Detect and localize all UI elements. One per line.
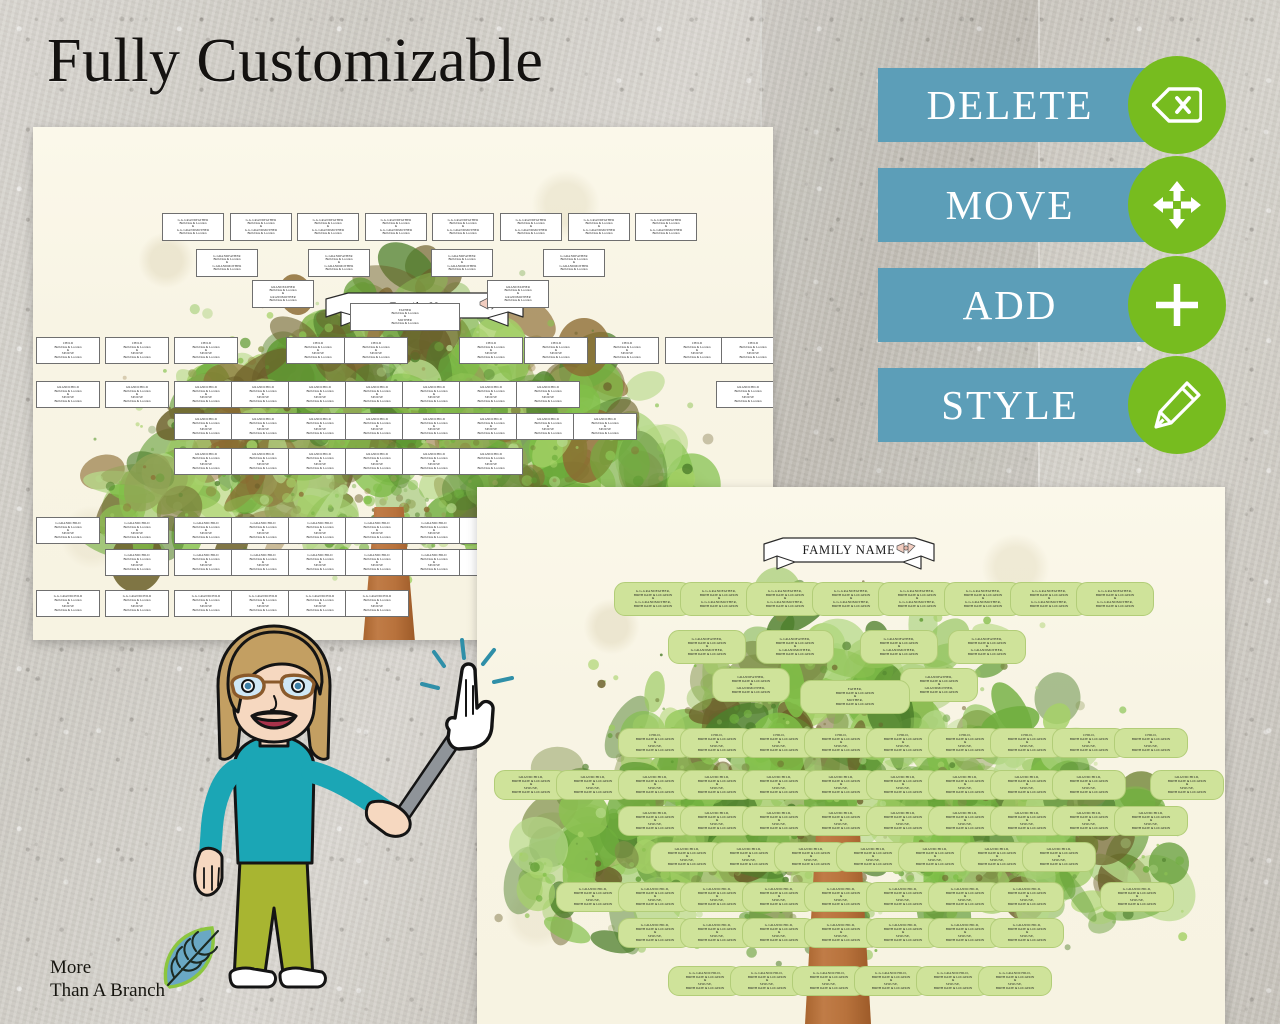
hand-cursor-icon	[447, 664, 493, 749]
tree-node[interactable]: G.GRANDCHILD,BIRTH DATE & LOCATION&SPOUS…	[990, 918, 1064, 948]
tree-node[interactable]: CHILD,BIRTH DATE & LOCATION&SPOUSE,BIRTH…	[1114, 728, 1188, 758]
tree-node[interactable]: G.GRANDCHILDBirth Date & Location&SPOUSE…	[36, 517, 100, 544]
tree-node[interactable]: GRANDCHILDBirth Date & Location&SPOUSEBi…	[459, 413, 523, 440]
tree-node[interactable]: CHILDBirth Date & Location&SPOUSEBirth D…	[524, 337, 588, 364]
family-tree-chart-green[interactable]: FAMILY NAME G.G.GRANDFATHER,BIRTH DATE &…	[477, 487, 1225, 1024]
tree-node[interactable]: GRANDCHILDBirth Date & Location&SPOUSEBi…	[231, 413, 295, 440]
tree-node[interactable]: GRANDCHILDBirth Date & Location&SPOUSEBi…	[288, 448, 352, 475]
logo-line-1: More	[50, 957, 165, 980]
tree-node[interactable]: GRANDCHILD,BIRTH DATE & LOCATION&SPOUSE,…	[1052, 770, 1126, 800]
tree-node[interactable]: GRANDCHILDBirth Date & Location&SPOUSEBi…	[345, 381, 409, 408]
tree-node[interactable]: GRANDFATHERBirth Date & Location&GRANDMO…	[252, 280, 314, 308]
plus-icon[interactable]	[1128, 256, 1226, 354]
tree-node[interactable]: G.GRANDCHILDBirth Date & Location&SPOUSE…	[288, 549, 352, 576]
tree-node[interactable]: CHILDBirth Date & Location&SPOUSEBirth D…	[344, 337, 408, 364]
tree-node[interactable]: CHILDBirth Date & Location&SPOUSEBirth D…	[595, 337, 659, 364]
tree-node[interactable]: GRANDCHILDBirth Date & Location&SPOUSEBi…	[174, 381, 238, 408]
tree-node[interactable]: G.GRANDCHILDBirth Date & Location&SPOUSE…	[288, 517, 352, 544]
tree-node[interactable]: G.G.GRANDFATHERBirth Date & Location&G.G…	[568, 213, 630, 241]
chart2-banner-text: FAMILY NAME	[760, 543, 938, 558]
tree-node[interactable]: G.GRANDCHILDBirth Date & Location&SPOUSE…	[174, 549, 238, 576]
tree-node[interactable]: GRANDCHILDBirth Date & Location&SPOUSEBi…	[402, 381, 466, 408]
brand-logo-text: More Than A Branch	[50, 957, 165, 1003]
tree-node[interactable]: G.G.GRANDCHILDBirth Date & Location&SPOU…	[36, 590, 100, 617]
tree-node[interactable]: GRANDFATHERBirth Date & Location&GRANDMO…	[487, 280, 549, 308]
delete-button[interactable]: DELETE	[878, 68, 1226, 142]
tree-node[interactable]: GRANDCHILD,BIRTH DATE & LOCATION&SPOUSE,…	[1114, 806, 1188, 836]
tree-node[interactable]: G.G.GRANDCHILDBirth Date & Location&SPOU…	[174, 590, 238, 617]
tree-node[interactable]: GRANDCHILDBirth Date & Location&SPOUSEBi…	[516, 413, 580, 440]
tree-node[interactable]: CHILDBirth Date & Location&SPOUSEBirth D…	[286, 337, 350, 364]
logo-line-2: Than A Branch	[50, 980, 165, 1003]
tree-node[interactable]: G.GRANDCHILD,BIRTH DATE & LOCATION&SPOUS…	[1100, 882, 1174, 912]
tree-node[interactable]: GRANDCHILDBirth Date & Location&SPOUSEBi…	[288, 381, 352, 408]
tree-node[interactable]: G.GRANDCHILDBirth Date & Location&SPOUSE…	[402, 517, 466, 544]
tree-node[interactable]: GRANDCHILDBirth Date & Location&SPOUSEBi…	[231, 381, 295, 408]
style-button[interactable]: STYLE	[878, 368, 1226, 442]
tree-node[interactable]: G.GRANDFATHER,BIRTH DATE & LOCATION&G.GR…	[756, 630, 834, 664]
tree-node[interactable]: GRANDCHILDBirth Date & Location&SPOUSEBi…	[231, 448, 295, 475]
page-title: Fully Customizable	[47, 29, 543, 94]
tree-node[interactable]: FATHERBirth Date & Location&MOTHERBirth …	[350, 303, 460, 331]
tree-node[interactable]: G.G.GRANDFATHERBirth Date & Location&G.G…	[365, 213, 427, 241]
tree-node[interactable]: GRANDCHILDBirth Date & Location&SPOUSEBi…	[459, 381, 523, 408]
tree-node[interactable]: G.G.GRANDFATHERBirth Date & Location&G.G…	[432, 213, 494, 241]
tree-node[interactable]: G.GRANDCHILDBirth Date & Location&SPOUSE…	[105, 517, 169, 544]
tree-node[interactable]: G.GRANDFATHERBirth Date & Location&G.GRA…	[196, 249, 258, 277]
tree-node[interactable]: G.GRANDCHILDBirth Date & Location&SPOUSE…	[231, 549, 295, 576]
move-arrows-icon[interactable]	[1128, 156, 1226, 254]
tree-node[interactable]: G.GRANDFATHERBirth Date & Location&G.GRA…	[431, 249, 493, 277]
tree-node[interactable]: GRANDCHILDBirth Date & Location&SPOUSEBi…	[105, 381, 169, 408]
tree-node[interactable]: G.GRANDFATHER,BIRTH DATE & LOCATION&G.GR…	[668, 630, 746, 664]
tree-node[interactable]: G.GRANDFATHERBirth Date & Location&G.GRA…	[308, 249, 370, 277]
tree-node[interactable]: G.G.GRANDCHILDBirth Date & Location&SPOU…	[288, 590, 352, 617]
tree-node[interactable]: G.G.GRANDFATHERBirth Date & Location&G.G…	[297, 213, 359, 241]
tree-node[interactable]: GRANDCHILD,BIRTH DATE & LOCATION&SPOUSE,…	[1150, 770, 1224, 800]
tree-node[interactable]: GRANDCHILDBirth Date & Location&SPOUSEBi…	[36, 381, 100, 408]
tree-node[interactable]: GRANDFATHER,BIRTH DATE & LOCATION&GRANDM…	[712, 668, 790, 702]
tree-node[interactable]: GRANDCHILDBirth Date & Location&SPOUSEBi…	[174, 413, 238, 440]
tree-node[interactable]: G.GRANDFATHERBirth Date & Location&G.GRA…	[543, 249, 605, 277]
tree-node[interactable]: G.G.GRANDFATHERBirth Date & Location&G.G…	[230, 213, 292, 241]
tree-node[interactable]: GRANDCHILDBirth Date & Location&SPOUSEBi…	[516, 381, 580, 408]
tree-node[interactable]: CHILDBirth Date & Location&SPOUSEBirth D…	[36, 337, 100, 364]
tree-node[interactable]: G.G.GRANDFATHER,BIRTH DATE & LOCATION&G.…	[1076, 582, 1154, 616]
tree-node[interactable]: G.G.GRANDCHILD,BIRTH DATE & LOCATION&SPO…	[978, 966, 1052, 996]
delete-button-label: DELETE	[927, 81, 1094, 129]
tree-node[interactable]: G.GRANDCHILDBirth Date & Location&SPOUSE…	[174, 517, 238, 544]
instructor-avatar	[176, 620, 536, 1024]
move-button[interactable]: MOVE	[878, 168, 1226, 242]
tree-node[interactable]: CHILDBirth Date & Location&SPOUSEBirth D…	[459, 337, 523, 364]
tree-node[interactable]: G.G.GRANDCHILDBirth Date & Location&SPOU…	[105, 590, 169, 617]
chart2-banner[interactable]: FAMILY NAME	[760, 533, 938, 575]
tree-node[interactable]: G.GRANDFATHER,BIRTH DATE & LOCATION&G.GR…	[860, 630, 938, 664]
tree-node[interactable]: GRANDCHILDBirth Date & Location&SPOUSEBi…	[288, 413, 352, 440]
tree-node[interactable]: GRANDCHILDBirth Date & Location&SPOUSEBi…	[459, 448, 523, 475]
pencil-icon[interactable]	[1128, 356, 1226, 454]
brand-logo: More Than A Branch	[48, 925, 228, 1021]
style-button-label: STYLE	[941, 381, 1079, 429]
add-button[interactable]: ADD	[878, 268, 1226, 342]
tree-node[interactable]: G.GRANDCHILDBirth Date & Location&SPOUSE…	[345, 517, 409, 544]
tree-node[interactable]: G.GRANDCHILDBirth Date & Location&SPOUSE…	[345, 549, 409, 576]
tree-node[interactable]: FATHER,BIRTH DATE & LOCATION&MOTHER,BIRT…	[800, 680, 910, 714]
tree-node[interactable]: G.GRANDCHILDBirth Date & Location&SPOUSE…	[402, 549, 466, 576]
leaf-icon	[156, 925, 228, 991]
move-button-label: MOVE	[946, 181, 1075, 229]
tree-node[interactable]: G.G.GRANDFATHERBirth Date & Location&G.G…	[635, 213, 697, 241]
tree-node[interactable]: GRANDFATHER,BIRTH DATE & LOCATION&GRANDM…	[900, 668, 978, 702]
delete-backspace-icon[interactable]	[1128, 56, 1226, 154]
tree-node[interactable]: GRANDCHILDBirth Date & Location&SPOUSEBi…	[402, 413, 466, 440]
tree-node[interactable]: G.GRANDFATHER,BIRTH DATE & LOCATION&G.GR…	[948, 630, 1026, 664]
tree-node[interactable]: CHILDBirth Date & Location&SPOUSEBirth D…	[665, 337, 729, 364]
tree-node[interactable]: CHILDBirth Date & Location&SPOUSEBirth D…	[721, 337, 773, 364]
tree-node[interactable]: G.GRANDCHILDBirth Date & Location&SPOUSE…	[105, 549, 169, 576]
tree-node[interactable]: GRANDCHILDBirth Date & Location&SPOUSEBi…	[716, 381, 773, 408]
tree-node[interactable]: GRANDCHILDBirth Date & Location&SPOUSEBi…	[573, 413, 637, 440]
action-button-group: DELETE MOVE ADD	[878, 68, 1226, 468]
tree-node[interactable]: G.G.GRANDFATHERBirth Date & Location&G.G…	[500, 213, 562, 241]
tree-node[interactable]: GRANDCHILDBirth Date & Location&SPOUSEBi…	[402, 448, 466, 475]
tree-node[interactable]: G.GRANDCHILDBirth Date & Location&SPOUSE…	[231, 517, 295, 544]
tree-node[interactable]: G.G.GRANDCHILDBirth Date & Location&SPOU…	[345, 590, 409, 617]
tree-node[interactable]: G.G.GRANDFATHERBirth Date & Location&G.G…	[162, 213, 224, 241]
add-button-label: ADD	[963, 281, 1058, 329]
tree-node[interactable]: GRANDCHILDBirth Date & Location&SPOUSEBi…	[174, 448, 238, 475]
tree-node[interactable]: CHILDBirth Date & Location&SPOUSEBirth D…	[174, 337, 238, 364]
tree-node[interactable]: CHILDBirth Date & Location&SPOUSEBirth D…	[105, 337, 169, 364]
tree-node[interactable]: GRANDCHILD,BIRTH DATE & LOCATION&SPOUSE,…	[1022, 842, 1096, 872]
tree-node[interactable]: GRANDCHILDBirth Date & Location&SPOUSEBi…	[345, 413, 409, 440]
tree-node[interactable]: G.GRANDCHILD,BIRTH DATE & LOCATION&SPOUS…	[990, 882, 1064, 912]
tree-node[interactable]: G.G.GRANDCHILDBirth Date & Location&SPOU…	[231, 590, 295, 617]
tree-node[interactable]: GRANDCHILDBirth Date & Location&SPOUSEBi…	[345, 448, 409, 475]
